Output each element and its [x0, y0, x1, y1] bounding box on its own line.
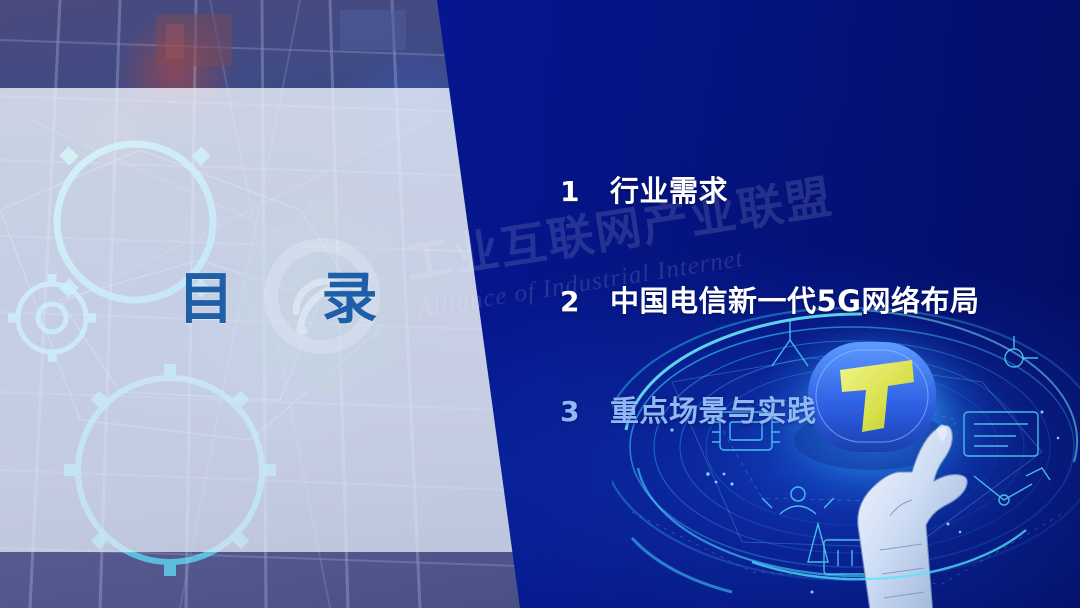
toc-item-1[interactable]: 1 行业需求	[560, 168, 1070, 278]
toc-item-2-number: 2	[560, 285, 610, 318]
toc-item-3[interactable]: 3 重点场景与实践	[560, 388, 1070, 498]
presentation-slide: 目 录 工业互联网产业联盟 Alliance of Industrial Int…	[0, 0, 1080, 608]
toc-item-3-label: 重点场景与实践	[610, 388, 817, 430]
toc-item-1-label: 行业需求	[610, 168, 728, 210]
toc-item-2[interactable]: 2 中国电信新一代5G网络布局	[560, 278, 1070, 388]
toc-item-3-number: 3	[560, 395, 610, 428]
toc-item-1-number: 1	[560, 175, 610, 208]
page-title: 目 录	[178, 272, 412, 328]
toc-item-2-label: 中国电信新一代5G网络布局	[610, 278, 979, 320]
toc-list: 1 行业需求 2 中国电信新一代5G网络布局 3 重点场景与实践	[560, 168, 1070, 498]
